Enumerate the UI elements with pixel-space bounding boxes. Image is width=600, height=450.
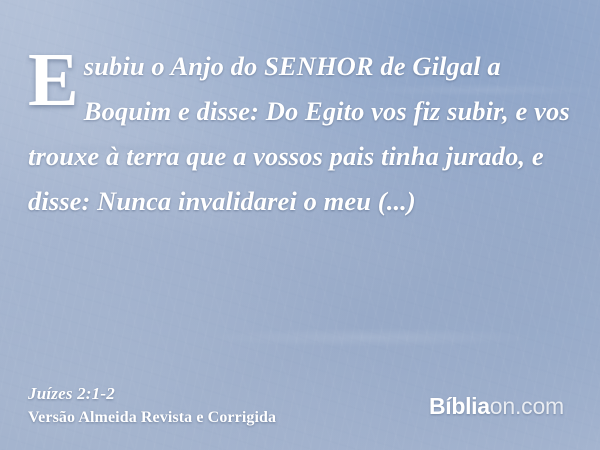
- reference-block: Juízes 2:1-2 Versão Almeida Revista e Co…: [28, 382, 276, 429]
- logo-strong-text: Bíblia: [429, 393, 490, 419]
- logo-light-text: on.com: [490, 393, 564, 419]
- verse-block: E subiu o Anjo do SENHOR de Gilgal a Boq…: [28, 44, 576, 224]
- verse-body-text: subiu o Anjo do SENHOR de Gilgal a Boqui…: [28, 51, 570, 216]
- bible-version-label: Versão Almeida Revista e Corrigida: [28, 406, 276, 429]
- bibliaon-logo[interactable]: Bíbliaon.com: [429, 395, 564, 418]
- verse-text: E subiu o Anjo do SENHOR de Gilgal a Boq…: [28, 44, 576, 224]
- verse-drop-cap: E: [28, 50, 79, 111]
- verse-image-card: E subiu o Anjo do SENHOR de Gilgal a Boq…: [0, 0, 600, 450]
- footer-bar: Juízes 2:1-2 Versão Almeida Revista e Co…: [0, 376, 600, 434]
- verse-reference: Juízes 2:1-2: [28, 382, 276, 406]
